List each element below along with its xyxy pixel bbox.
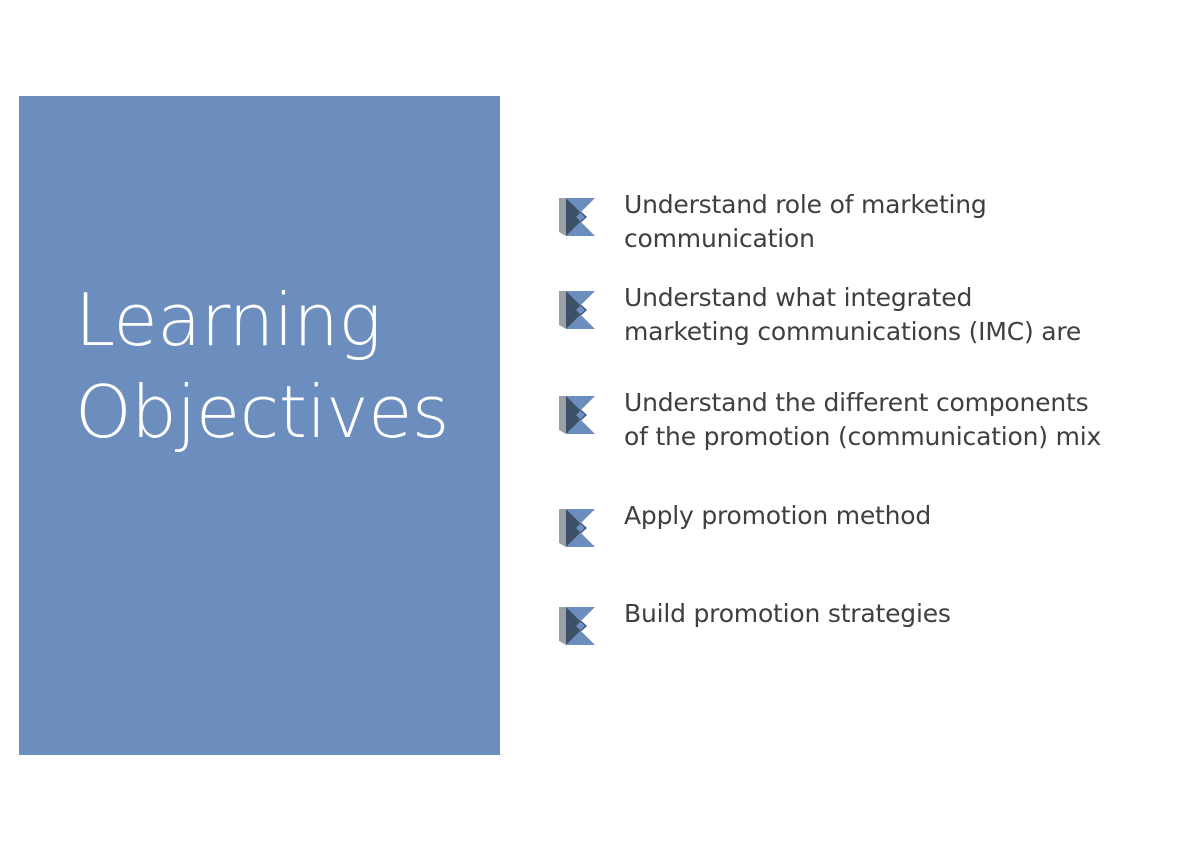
list-item: Understand what integrated marketing com… <box>556 279 1156 348</box>
list-item: Understand the different components of t… <box>556 384 1156 453</box>
objectives-list: Understand role of marketing communicati… <box>556 186 1156 649</box>
bowtie-chevron-bullet-icon <box>556 194 602 240</box>
bowtie-chevron-bullet-icon <box>556 392 602 438</box>
list-item: Apply promotion method <box>556 497 1156 551</box>
list-item-label: Build promotion strategies <box>624 595 1156 631</box>
list-item-label: Apply promotion method <box>624 497 1156 533</box>
list-item-label: Understand role of marketing communicati… <box>624 186 1156 255</box>
slide-canvas: Learning Objectives Understand role of m… <box>0 0 1200 849</box>
list-item: Build promotion strategies <box>556 595 1156 649</box>
slide-title: Learning Objectives <box>75 274 479 458</box>
list-item-label: Understand the different components of t… <box>624 384 1156 453</box>
title-panel: Learning Objectives <box>19 96 500 755</box>
bowtie-chevron-bullet-icon <box>556 505 602 551</box>
list-item-label: Understand what integrated marketing com… <box>624 279 1156 348</box>
bowtie-chevron-bullet-icon <box>556 287 602 333</box>
bowtie-chevron-bullet-icon <box>556 603 602 649</box>
list-item: Understand role of marketing communicati… <box>556 186 1156 255</box>
